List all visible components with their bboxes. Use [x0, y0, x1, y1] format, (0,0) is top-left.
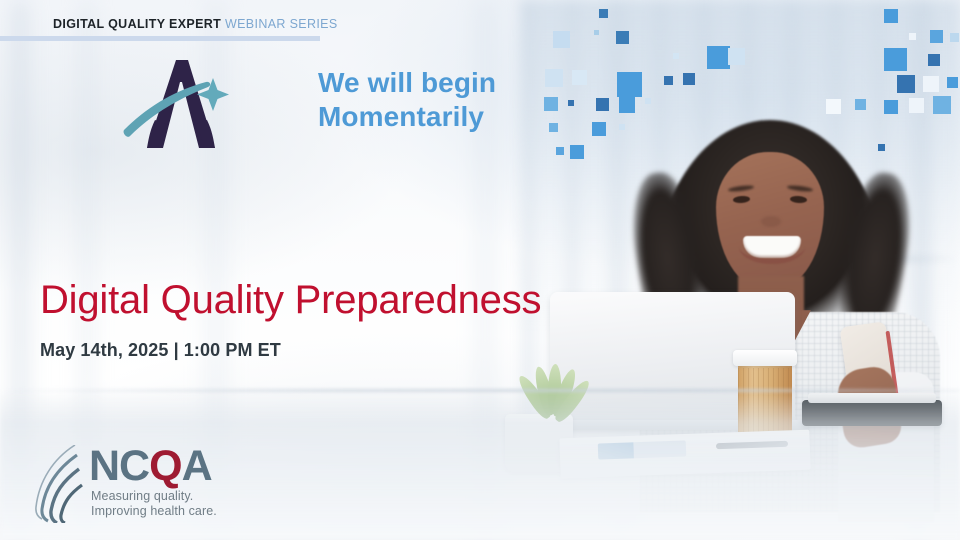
ncqa-wordmark-nc: NC: [89, 442, 149, 490]
webinar-slide: DIGITAL QUALITY EXPERT WEBINAR SERIES We…: [0, 0, 960, 540]
ncqa-logo: NCQA Measuring quality. Improving health…: [33, 443, 223, 521]
event-datetime: May 14th, 2025 | 1:00 PM ET: [40, 340, 281, 361]
header-light-text: WEBINAR SERIES: [225, 17, 338, 31]
page-title: Digital Quality Preparedness: [40, 278, 541, 323]
stylized-letter-a-logo: [118, 52, 238, 160]
lips: [739, 230, 805, 264]
header-strong-text: DIGITAL QUALITY EXPERT: [53, 17, 221, 31]
begin-line-2: Momentarily: [318, 100, 568, 134]
nose: [761, 216, 781, 227]
header-rule: [0, 36, 320, 41]
ncqa-swoosh-icon: [33, 445, 89, 523]
ncqa-wordmark-a: A: [182, 442, 212, 490]
ncqa-tagline-line-1: Measuring quality.: [91, 489, 217, 504]
ncqa-wordmark: NCQA: [89, 445, 212, 488]
ncqa-tagline: Measuring quality. Improving health care…: [91, 489, 217, 520]
ncqa-wordmark-q: Q: [149, 442, 181, 490]
begin-momentarily-message: We will begin Momentarily: [318, 66, 568, 134]
ncqa-tagline-line-2: Improving health care.: [91, 504, 217, 519]
webinar-series-header: DIGITAL QUALITY EXPERT WEBINAR SERIES: [53, 17, 338, 31]
begin-line-1: We will begin: [318, 66, 568, 100]
